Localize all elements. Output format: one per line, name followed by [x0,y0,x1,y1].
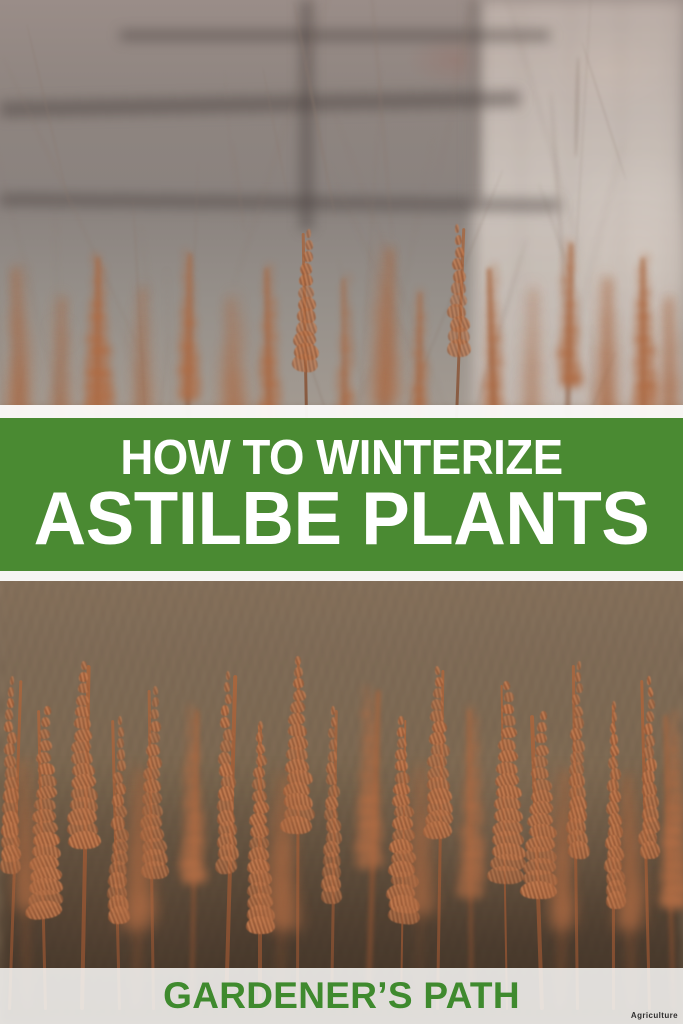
plume-segment [503,692,514,703]
plume-segment [151,697,159,707]
plume-segment [452,258,464,270]
plume-segment [14,287,23,298]
plume-segment [669,733,679,744]
plume-segment [570,728,582,741]
plume-segment [645,735,655,747]
plume-segment [326,762,336,774]
plume-segment [43,705,50,715]
plume-segment [266,263,272,273]
plume-segment [224,693,232,704]
plume-segment [58,293,62,302]
plume-segment [380,265,390,276]
plume-segment [152,685,158,694]
plume-segment [396,738,407,749]
plume-segment [647,675,651,684]
plume-segment [637,276,647,287]
plume-segment [275,782,285,792]
plume-segment [379,288,392,300]
plume-segment [536,722,546,732]
plume-segment [117,760,126,771]
plume-segment [223,728,234,740]
plume-segment [673,710,679,719]
plume-segment [616,911,643,930]
plume-segment [12,310,24,323]
title-banner: HOW TO WINTERIZE ASTILBE PLANTS [0,418,683,571]
plume-segment [276,770,282,779]
plume-segment [294,667,303,677]
plume-segment [16,891,37,909]
plume-segment [187,705,193,714]
plume-segment [664,329,674,340]
plume-segment [576,683,583,693]
plume-segment [5,709,14,720]
plume-segment [252,778,266,790]
plume-segment [219,716,230,728]
plume-segment [601,308,611,319]
plume-segment [600,320,611,332]
plume-segment [382,255,389,265]
plume-segment [572,694,581,705]
plume-segment [327,728,335,739]
plume-segment [454,235,462,245]
plume-segment [611,712,617,722]
plume-segment [13,323,25,335]
plume-segment [454,246,464,257]
plume-segment [187,751,199,763]
plume-segment [305,228,311,238]
plume-segment [414,771,423,782]
plume-segment [341,285,347,295]
banner-divider-top [0,405,683,418]
plume-segment [607,756,618,769]
plume-segment [295,655,301,664]
plume-segment [78,671,88,681]
banner-divider-bottom [0,571,683,581]
plume-segment [118,715,122,724]
plume-segment [304,240,312,250]
plume-segment [183,271,191,282]
plume-segment [394,749,406,760]
plume-segment [150,709,159,719]
plume-segment [565,250,572,260]
plume-segment [665,341,676,353]
plume-segment [180,865,207,885]
plume-segment [187,728,196,738]
plume-segment [4,720,14,732]
plume-segment [625,805,637,817]
plume-segment [555,777,561,787]
plume-segment [362,709,372,720]
plume-segment [150,720,161,732]
plume-segment [117,726,123,736]
plume-segment [188,740,198,751]
plume-segment [302,251,312,262]
plume-segment [183,282,193,294]
plume-segment [341,343,352,356]
plume-segment [223,682,229,692]
plume-segment [562,274,572,286]
plume-segment [183,294,194,306]
plume-segment [490,275,497,285]
plume-segment [293,689,307,701]
plume-segment [418,288,422,297]
plume-segment [455,880,484,899]
plume-segment [667,744,679,756]
plume-segment [601,332,613,344]
plume-segment [635,298,648,310]
plume-segment [146,744,160,756]
plume-segment [7,698,14,708]
plume-segment [575,672,581,682]
plume-segment [527,317,535,328]
plume-segment [565,262,574,273]
plume-segment [414,783,424,794]
plume-segment [413,347,424,359]
source-watermark: Agriculture [631,1011,678,1020]
plume-segment [188,717,196,727]
plume-segment [9,675,13,684]
plume-segment [229,327,242,338]
plume-segment [526,340,536,353]
plume-segment [626,794,635,805]
plume-segment [128,787,141,799]
plume-segment [340,331,350,344]
plume-segment [667,767,681,779]
plume-segment [612,700,616,709]
plume-segment [647,699,655,710]
plume-segment [398,715,404,724]
plume-segment [57,328,64,339]
fence-post [470,0,481,200]
plume-segment [555,788,563,798]
plume-segment [325,773,337,786]
plume-segment [225,670,229,679]
plume-segment [417,312,424,322]
plume-segment [117,738,124,748]
plume-segment [116,749,125,760]
brand-wordmark: GARDENER’S PATH [163,975,520,1017]
plume-segment [256,755,267,766]
plume-segment [68,830,101,849]
plume-segment [540,710,547,719]
plume-segment [625,817,639,830]
plume-segment [560,369,583,387]
plume-segment [447,339,471,357]
plume-segment [416,300,422,310]
plume-segment [432,687,443,698]
plume-segment [131,776,141,786]
plume-segment [25,767,31,777]
plume-segment [416,323,425,334]
plume-segment [430,709,444,721]
plume-segment [365,697,373,707]
plume-segment [640,841,660,860]
plume-segment [381,243,386,252]
plume-segment [363,720,376,732]
plume-segment [331,705,335,714]
fence-rail [120,30,550,41]
plume-segment [220,740,232,753]
plume-segment [37,762,55,775]
plume-segment [396,726,405,736]
plume-segment [328,739,337,750]
plume-segment [377,277,388,288]
plume-segment [321,886,342,904]
plume-segment [300,262,313,274]
plume-segment [177,383,200,402]
plume-segment [130,810,146,822]
plume-segment [8,687,14,697]
plume-segment [577,660,582,669]
plume-segment [80,660,87,670]
plume-segment [487,309,499,321]
plume-segment [265,297,276,308]
plume-segment [131,799,145,811]
brand-footer-bar: GARDENER’S PATH [0,968,683,1024]
plume-segment [76,694,90,706]
plume-segment [431,698,444,710]
pinterest-pin-graphic: HOW TO WINTERIZE ASTILBE PLANTS GARDENER… [0,0,683,1024]
plume-segment [668,722,676,732]
plume-segment [454,223,459,232]
plume-segment [95,264,104,274]
plume-segment [252,766,264,777]
plume-segment [601,285,607,295]
plume-segment [17,275,23,285]
plume-segment [346,273,350,282]
plume-segment [529,306,536,317]
title-line-2: ASTILBE PLANTS [10,484,673,553]
